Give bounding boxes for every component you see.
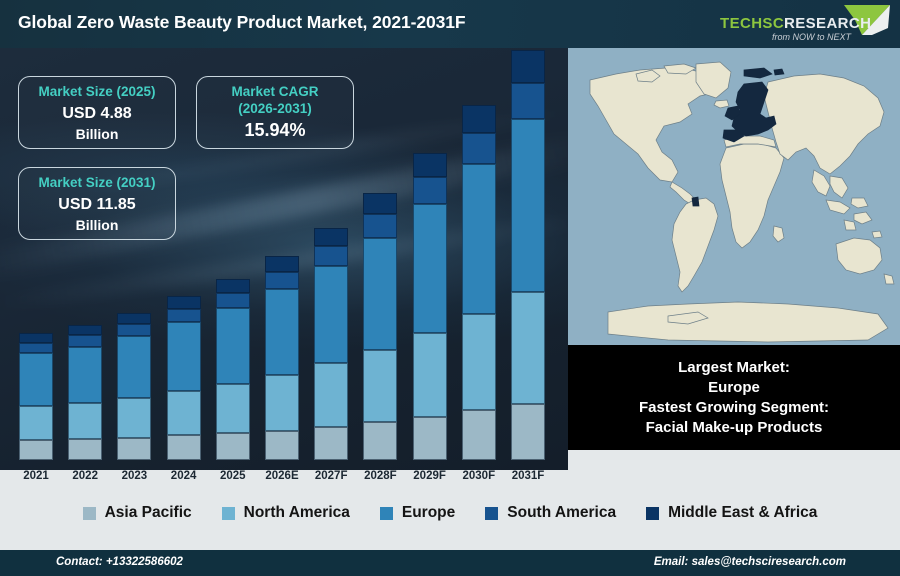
bar-segment-asia-pacific[interactable]: [511, 404, 545, 460]
bar-segment-middle-east-africa[interactable]: [413, 153, 447, 177]
bar-segment-south-america[interactable]: [511, 83, 545, 120]
bar-2024[interactable]: [167, 296, 201, 460]
bar-segment-asia-pacific[interactable]: [19, 440, 53, 460]
bar-segment-middle-east-africa[interactable]: [511, 50, 545, 83]
bar-segment-europe[interactable]: [117, 336, 151, 397]
world-map-svg: [568, 48, 900, 345]
bar-segment-north-america[interactable]: [117, 398, 151, 438]
bar-segment-europe[interactable]: [363, 238, 397, 350]
infographic-page: Global Zero Waste Beauty Product Market,…: [0, 0, 900, 576]
fastest-segment-value: Facial Make-up Products: [646, 418, 823, 437]
legend-label: Middle East & Africa: [668, 504, 817, 522]
bar-segment-middle-east-africa[interactable]: [462, 105, 496, 133]
bar-segment-north-america[interactable]: [413, 333, 447, 417]
bar-segment-middle-east-africa[interactable]: [314, 228, 348, 246]
bar-segment-north-america[interactable]: [511, 292, 545, 404]
bar-segment-south-america[interactable]: [167, 309, 201, 323]
x-axis-label-2027F: 2027F: [304, 470, 358, 482]
bar-segment-south-america[interactable]: [462, 133, 496, 164]
bar-segment-europe[interactable]: [314, 266, 348, 363]
legend-swatch-icon: [380, 507, 393, 520]
legend-label: North America: [244, 504, 350, 522]
bar-segment-middle-east-africa[interactable]: [117, 313, 151, 324]
bar-segment-middle-east-africa[interactable]: [68, 325, 102, 335]
x-axis-label-2022: 2022: [58, 470, 112, 482]
bar-segment-middle-east-africa[interactable]: [265, 256, 299, 272]
info-box: Largest Market: Europe Fastest Growing S…: [568, 345, 900, 450]
bar-segment-asia-pacific[interactable]: [117, 438, 151, 460]
bar-segment-north-america[interactable]: [216, 384, 250, 433]
svg-text:RESEARCH: RESEARCH: [784, 15, 871, 32]
x-axis-label-2026E: 2026E: [255, 470, 309, 482]
legend-swatch-icon: [83, 507, 96, 520]
bar-2025[interactable]: [216, 279, 250, 460]
legend-item-middle-east-africa[interactable]: Middle East & Africa: [646, 504, 817, 522]
x-axis-labels: 202120222023202420252026E2027F2028F2029F…: [0, 470, 568, 492]
bar-segment-europe[interactable]: [462, 164, 496, 313]
bar-segment-asia-pacific[interactable]: [265, 431, 299, 460]
bar-segment-south-america[interactable]: [265, 272, 299, 290]
bar-segment-europe[interactable]: [413, 204, 447, 333]
bar-segment-middle-east-africa[interactable]: [167, 296, 201, 308]
footer-bar: Contact: +13322586602 Email: sales@techs…: [0, 550, 900, 576]
bar-segment-asia-pacific[interactable]: [314, 427, 348, 460]
page-title: Global Zero Waste Beauty Product Market,…: [18, 12, 465, 33]
bar-2029F[interactable]: [413, 153, 447, 460]
legend-item-europe[interactable]: Europe: [380, 504, 455, 522]
bar-segment-north-america[interactable]: [363, 350, 397, 423]
largest-market-value: Europe: [708, 378, 760, 397]
bar-segment-europe[interactable]: [511, 119, 545, 292]
legend-item-asia-pacific[interactable]: Asia Pacific: [83, 504, 192, 522]
x-axis-label-2023: 2023: [107, 470, 161, 482]
bar-segment-middle-east-africa[interactable]: [19, 333, 53, 342]
legend-swatch-icon: [222, 507, 235, 520]
header-bar: Global Zero Waste Beauty Product Market,…: [0, 0, 900, 48]
fastest-segment-label: Fastest Growing Segment:: [639, 398, 829, 417]
stacked-bar-plot: [0, 48, 568, 460]
bar-segment-asia-pacific[interactable]: [167, 435, 201, 460]
bar-segment-north-america[interactable]: [19, 406, 53, 441]
legend-item-south-america[interactable]: South America: [485, 504, 616, 522]
bar-segment-south-america[interactable]: [19, 343, 53, 354]
email-text: Email: sales@techsciresearch.com: [654, 556, 846, 568]
bar-segment-south-america[interactable]: [314, 246, 348, 266]
bar-2023[interactable]: [117, 313, 151, 460]
bar-segment-south-america[interactable]: [413, 177, 447, 204]
bar-segment-europe[interactable]: [68, 347, 102, 403]
bar-segment-asia-pacific[interactable]: [363, 422, 397, 460]
svg-text:TECHSCI: TECHSCI: [720, 15, 789, 32]
bar-segment-north-america[interactable]: [265, 375, 299, 431]
legend-label: Asia Pacific: [105, 504, 192, 522]
bar-segment-europe[interactable]: [19, 353, 53, 405]
bar-2021[interactable]: [19, 333, 53, 460]
bar-segment-middle-east-africa[interactable]: [363, 193, 397, 214]
legend-swatch-icon: [646, 507, 659, 520]
bar-segment-north-america[interactable]: [314, 363, 348, 426]
x-axis-label-2031F: 2031F: [501, 470, 555, 482]
legend-swatch-icon: [485, 507, 498, 520]
bar-2030F[interactable]: [462, 105, 496, 460]
techsci-research-logo: TECHSCI RESEARCH from NOW to NEXT: [712, 2, 892, 46]
legend-item-north-america[interactable]: North America: [222, 504, 350, 522]
x-axis-label-2021: 2021: [9, 470, 63, 482]
legend-label: South America: [507, 504, 616, 522]
bar-segment-south-america[interactable]: [363, 214, 397, 238]
world-map-panel: [568, 48, 900, 345]
bar-segment-middle-east-africa[interactable]: [216, 279, 250, 293]
x-axis-label-2024: 2024: [157, 470, 211, 482]
bar-segment-north-america[interactable]: [167, 391, 201, 435]
bar-segment-south-america[interactable]: [68, 335, 102, 346]
x-axis-label-2030F: 2030F: [452, 470, 506, 482]
contact-text: Contact: +13322586602: [56, 556, 183, 568]
bar-2022[interactable]: [68, 325, 102, 460]
chart-panel: Market Size (2025) USD 4.88 Billion Mark…: [0, 48, 568, 470]
svg-text:from NOW to NEXT: from NOW to NEXT: [772, 32, 853, 42]
bar-segment-asia-pacific[interactable]: [68, 439, 102, 460]
bar-2026E[interactable]: [265, 256, 299, 460]
chart-legend: Asia PacificNorth AmericaEuropeSouth Ame…: [0, 492, 900, 534]
largest-market-label: Largest Market:: [678, 358, 790, 377]
x-axis-label-2025: 2025: [206, 470, 260, 482]
bar-segment-asia-pacific[interactable]: [462, 410, 496, 460]
logo-graphic: TECHSCI RESEARCH from NOW to NEXT: [712, 2, 892, 46]
bar-segment-south-america[interactable]: [216, 293, 250, 309]
bar-segment-north-america[interactable]: [68, 403, 102, 440]
bar-2028F[interactable]: [363, 193, 397, 460]
bar-2027F[interactable]: [314, 228, 348, 460]
x-axis-label-2029F: 2029F: [403, 470, 457, 482]
bar-segment-europe[interactable]: [265, 289, 299, 375]
bar-2031F[interactable]: [511, 50, 545, 460]
bar-segment-asia-pacific[interactable]: [413, 417, 447, 460]
x-axis-label-2028F: 2028F: [353, 470, 407, 482]
bar-segment-asia-pacific[interactable]: [216, 433, 250, 460]
bar-segment-europe[interactable]: [216, 308, 250, 384]
legend-label: Europe: [402, 504, 455, 522]
bar-segment-europe[interactable]: [167, 322, 201, 391]
bar-segment-north-america[interactable]: [462, 314, 496, 411]
bar-segment-south-america[interactable]: [117, 324, 151, 336]
